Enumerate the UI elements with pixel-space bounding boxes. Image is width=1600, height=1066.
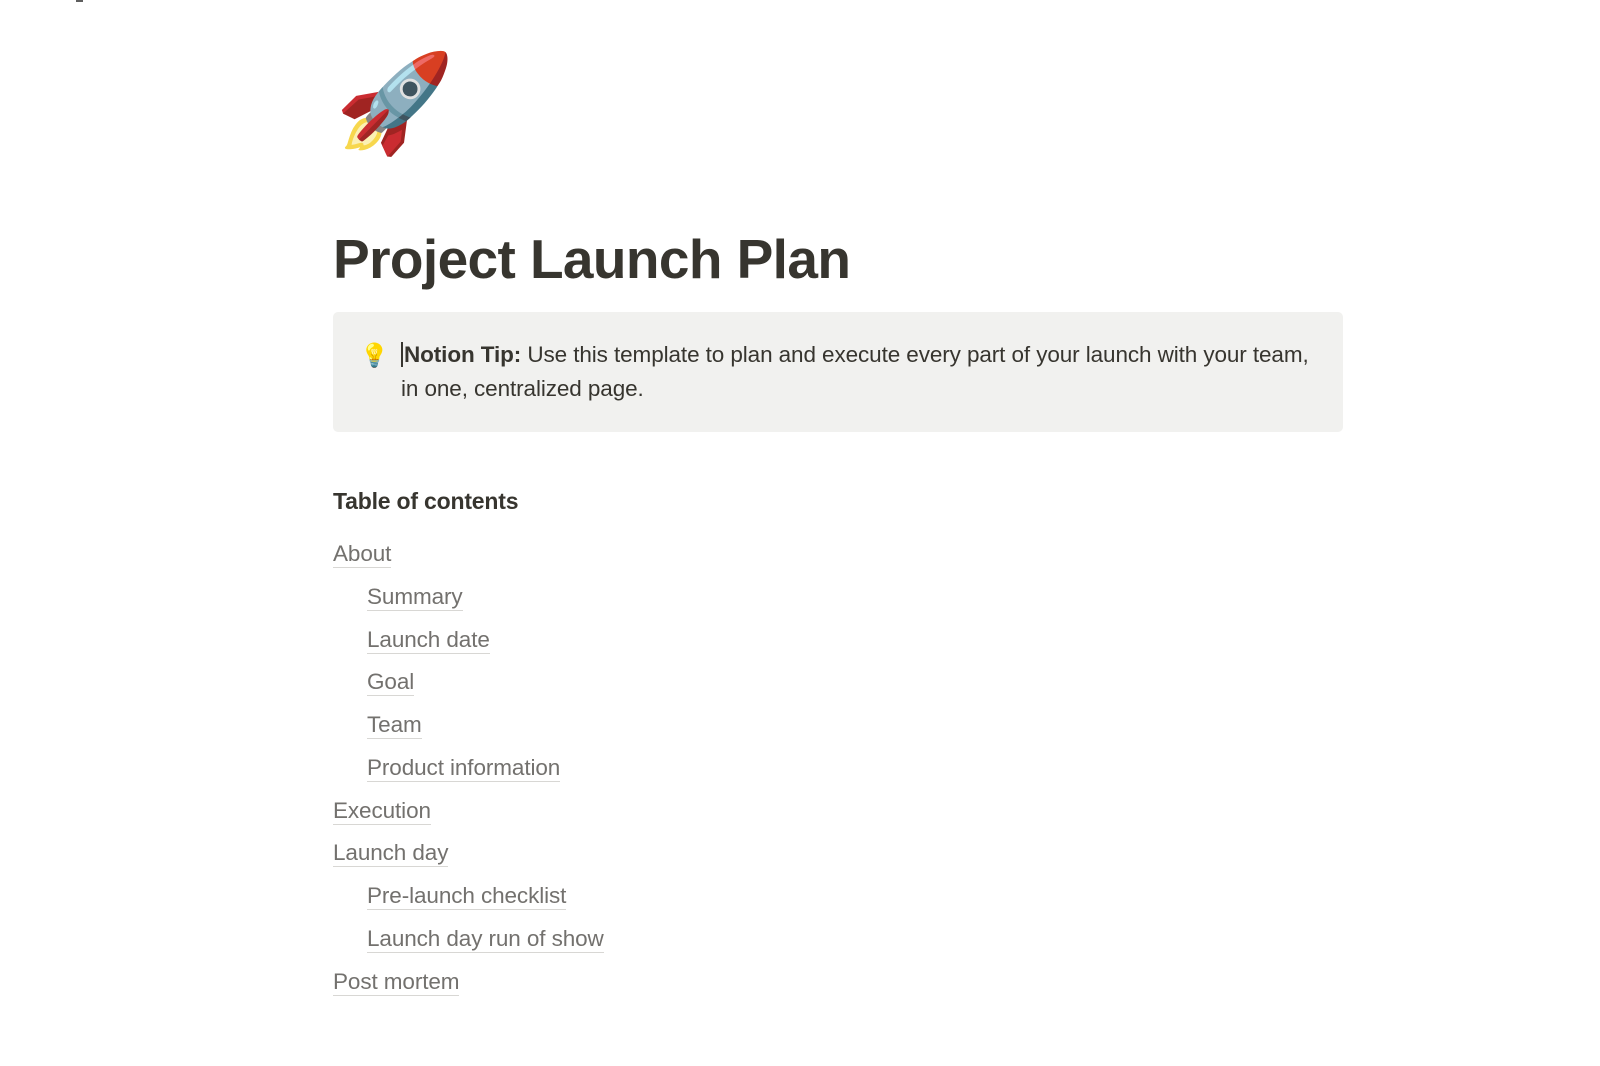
callout-strong-label: Notion Tip: [404, 342, 521, 367]
toc-link-launch-day[interactable]: Launch day [333, 836, 1033, 870]
toc-link-label: Summary [367, 584, 463, 611]
toc-link-label: Execution [333, 798, 431, 825]
page-title[interactable]: Project Launch Plan [333, 228, 850, 291]
toc-link-label: Launch day run of show [367, 926, 604, 953]
text-cursor [401, 342, 403, 367]
toc-link-launch-day-run-of-show[interactable]: Launch day run of show [333, 922, 1033, 956]
toc-link-label: Product information [367, 755, 560, 782]
table-of-contents-heading: Table of contents [333, 487, 518, 517]
toc-link-pre-launch-checklist[interactable]: Pre-launch checklist [333, 879, 1033, 913]
toc-link-about[interactable]: About [333, 537, 1033, 571]
callout-block[interactable]: 💡 Notion Tip: Use this template to plan … [333, 312, 1343, 432]
toc-link-post-mortem[interactable]: Post mortem [333, 965, 1033, 999]
toc-link-label: About [333, 541, 391, 568]
toc-link-label: Launch date [367, 627, 490, 654]
toc-link-launch-date[interactable]: Launch date [333, 623, 1033, 657]
toc-link-product-information[interactable]: Product information [333, 751, 1033, 785]
toc-link-label: Goal [367, 669, 414, 696]
callout-body-text: Use this template to plan and execute ev… [401, 342, 1309, 401]
notion-page: 🚀 Project Launch Plan 💡 Notion Tip: Use … [0, 0, 1600, 1066]
table-of-contents: AboutSummaryLaunch dateGoalTeamProduct i… [333, 537, 1033, 1007]
toc-link-team[interactable]: Team [333, 708, 1033, 742]
toc-link-execution[interactable]: Execution [333, 794, 1033, 828]
clipped-toolbar-artifact [76, 0, 83, 2]
toc-link-label: Launch day [333, 840, 448, 867]
toc-link-summary[interactable]: Summary [333, 580, 1033, 614]
toc-link-label: Pre-launch checklist [367, 883, 566, 910]
light-bulb-icon[interactable]: 💡 [357, 338, 401, 372]
rocket-emoji[interactable]: 🚀 [335, 56, 455, 152]
callout-text[interactable]: Notion Tip: Use this template to plan an… [401, 338, 1313, 406]
toc-link-goal[interactable]: Goal [333, 665, 1033, 699]
toc-link-label: Team [367, 712, 422, 739]
toc-link-label: Post mortem [333, 969, 459, 996]
